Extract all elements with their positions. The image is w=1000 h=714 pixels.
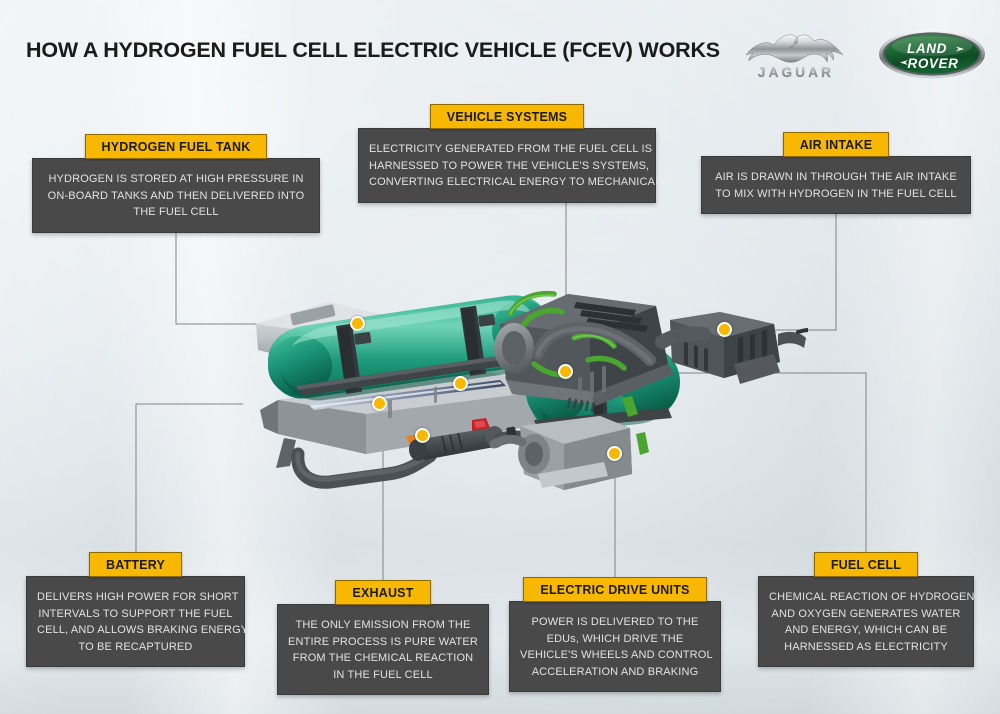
brand-logos: JAGUAR bbox=[740, 22, 986, 86]
callout-title-vehicle-systems: VEHICLE SYSTEMS bbox=[430, 104, 584, 129]
air-intake-box bbox=[662, 312, 808, 384]
callout-electric-drive-units: ELECTRIC DRIVE UNITS POWER IS DELIVERED … bbox=[509, 577, 721, 692]
marker-exhaust[interactable] bbox=[415, 428, 430, 443]
callout-line: ACCELERATION AND BRAKING bbox=[520, 664, 710, 681]
callout-line: ENTIRE PROCESS IS PURE WATER bbox=[288, 634, 478, 651]
callout-line: VEHICLE'S WHEELS AND CONTROL bbox=[520, 647, 710, 664]
callout-air-intake: AIR INTAKE AIR IS DRAWN IN THROUGH THE A… bbox=[701, 132, 971, 214]
callout-line: IN THE FUEL CELL bbox=[288, 667, 478, 684]
marker-air-intake[interactable] bbox=[717, 322, 732, 337]
callout-body-electric-drive-units: POWER IS DELIVERED TO THE EDUs, WHICH DR… bbox=[509, 601, 721, 692]
jaguar-logo: JAGUAR bbox=[740, 24, 852, 84]
callout-line: TO BE RECAPTURED bbox=[37, 639, 234, 656]
callout-line: CELL, AND ALLOWS BRAKING ENERGY bbox=[37, 622, 234, 639]
callout-exhaust: EXHAUST THE ONLY EMISSION FROM THE ENTIR… bbox=[277, 580, 489, 695]
page-title: HOW A HYDROGEN FUEL CELL ELECTRIC VEHICL… bbox=[26, 38, 720, 63]
land-rover-line2: ROVER bbox=[907, 56, 958, 71]
callout-line: FROM THE CHEMICAL REACTION bbox=[288, 650, 478, 667]
callout-title-exhaust: EXHAUST bbox=[335, 580, 430, 605]
callout-title-battery: BATTERY bbox=[89, 552, 182, 577]
callout-line: ON-BOARD TANKS AND THEN DELIVERED INTO bbox=[43, 188, 309, 205]
callout-line: HARNESSED TO POWER THE VEHICLE'S SYSTEMS… bbox=[369, 158, 645, 175]
callout-body-hydrogen-fuel-tank: HYDROGEN IS STORED AT HIGH PRESSURE IN O… bbox=[32, 158, 320, 233]
callout-line: EDUs, WHICH DRIVE THE bbox=[520, 631, 710, 648]
callout-body-battery: DELIVERS HIGH POWER FOR SHORT INTERVALS … bbox=[26, 576, 245, 667]
marker-electric-drive-units[interactable] bbox=[607, 446, 622, 461]
callout-line: HARNESSED AS ELECTRICITY bbox=[769, 639, 963, 656]
marker-fuel-cell[interactable] bbox=[453, 376, 468, 391]
callout-vehicle-systems: VEHICLE SYSTEMS ELECTRICITY GENERATED FR… bbox=[358, 104, 656, 203]
callout-battery: BATTERY DELIVERS HIGH POWER FOR SHORT IN… bbox=[26, 552, 245, 667]
line-battery bbox=[136, 404, 243, 556]
callout-body-exhaust: THE ONLY EMISSION FROM THE ENTIRE PROCES… bbox=[277, 604, 489, 695]
marker-vehicle-systems[interactable] bbox=[558, 364, 573, 379]
infographic-canvas: HOW A HYDROGEN FUEL CELL ELECTRIC VEHICL… bbox=[0, 0, 1000, 714]
callout-line: CONVERTING ELECTRICAL ENERGY TO MECHANIC… bbox=[369, 174, 645, 191]
callout-line: ELECTRICITY GENERATED FROM THE FUEL CELL… bbox=[369, 141, 645, 158]
callout-title-electric-drive-units: ELECTRIC DRIVE UNITS bbox=[523, 577, 706, 602]
callout-line: THE FUEL CELL bbox=[43, 204, 309, 221]
fcev-powertrain-illustration bbox=[238, 268, 808, 518]
callout-title-air-intake: AIR INTAKE bbox=[783, 132, 890, 157]
marker-battery[interactable] bbox=[372, 396, 387, 411]
callout-hydrogen-fuel-tank: HYDROGEN FUEL TANK HYDROGEN IS STORED AT… bbox=[32, 134, 320, 233]
jaguar-leaper-icon bbox=[746, 35, 843, 62]
callout-line: AND OXYGEN GENERATES WATER bbox=[769, 606, 963, 623]
callout-title-fuel-cell: FUEL CELL bbox=[814, 552, 918, 577]
land-rover-line1: LAND bbox=[907, 41, 947, 56]
callout-body-air-intake: AIR IS DRAWN IN THROUGH THE AIR INTAKE T… bbox=[701, 156, 971, 214]
callout-fuel-cell: FUEL CELL CHEMICAL REACTION OF HYDROGEN … bbox=[758, 552, 974, 667]
callout-body-vehicle-systems: ELECTRICITY GENERATED FROM THE FUEL CELL… bbox=[358, 128, 656, 203]
callout-line: DELIVERS HIGH POWER FOR SHORT bbox=[37, 589, 234, 606]
callout-line: THE ONLY EMISSION FROM THE bbox=[288, 617, 478, 634]
callout-line: POWER IS DELIVERED TO THE bbox=[520, 614, 710, 631]
callout-line: AIR IS DRAWN IN THROUGH THE AIR INTAKE bbox=[712, 169, 960, 186]
marker-hydrogen-fuel-tank[interactable] bbox=[350, 316, 365, 331]
callout-body-fuel-cell: CHEMICAL REACTION OF HYDROGEN AND OXYGEN… bbox=[758, 576, 974, 667]
land-rover-logo: LAND ROVER bbox=[878, 28, 986, 80]
callout-line: CHEMICAL REACTION OF HYDROGEN bbox=[769, 589, 963, 606]
callout-title-hydrogen-fuel-tank: HYDROGEN FUEL TANK bbox=[85, 134, 268, 159]
callout-line: INTERVALS TO SUPPORT THE FUEL bbox=[37, 606, 234, 623]
jaguar-wordmark: JAGUAR bbox=[758, 65, 834, 80]
callout-line: TO MIX WITH HYDROGEN IN THE FUEL CELL bbox=[712, 186, 960, 203]
callout-line: HYDROGEN IS STORED AT HIGH PRESSURE IN bbox=[43, 171, 309, 188]
callout-line: AND ENERGY, WHICH CAN BE bbox=[769, 622, 963, 639]
